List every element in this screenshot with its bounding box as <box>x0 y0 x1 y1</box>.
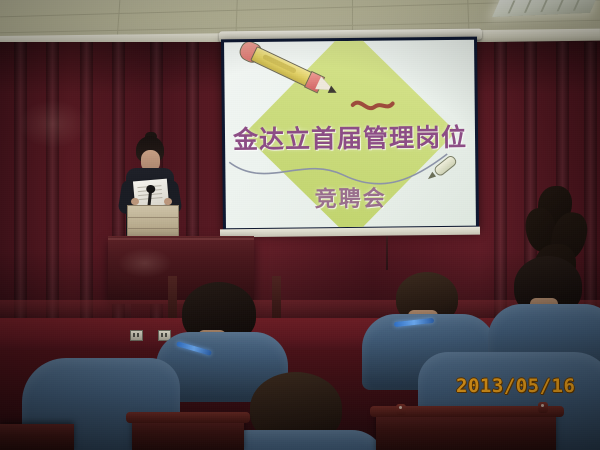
slide-title: 金达立首届管理岗位 <box>225 118 475 157</box>
slide-surface: 金达立首届管理岗位 竞聘会 <box>224 40 476 229</box>
seat-rail <box>126 412 250 423</box>
attendee-center-front <box>224 372 374 450</box>
seat-back <box>0 424 74 450</box>
seat-knob <box>396 404 406 415</box>
photograph: 金达立首届管理岗位 竞聘会 <box>0 0 600 450</box>
presenter-hand-right <box>164 198 172 205</box>
wall-outlet-icon <box>130 330 143 341</box>
camera-timestamp: 2013/05/16 <box>456 375 575 397</box>
projector-screen-cord <box>386 236 388 270</box>
seat-knob <box>538 402 548 413</box>
projector-screen: 金达立首届管理岗位 竞聘会 <box>221 37 479 232</box>
presenter-hand-left <box>131 198 139 205</box>
seat-back <box>376 412 556 450</box>
slide-subtitle: 竞聘会 <box>225 180 475 215</box>
